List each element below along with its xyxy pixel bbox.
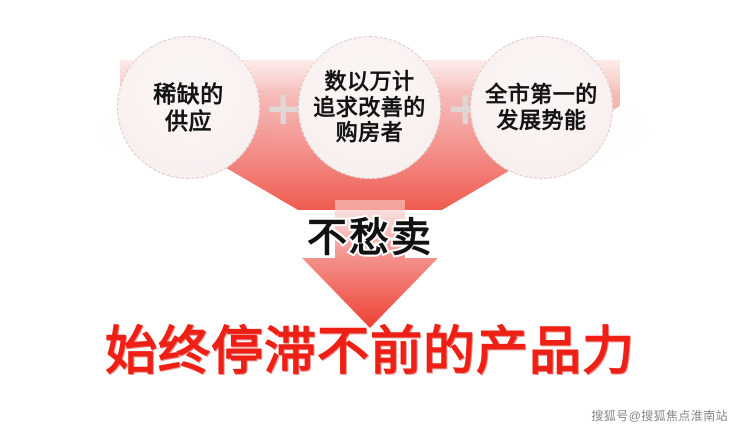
- middle-conclusion-label: 不愁卖: [0, 218, 740, 258]
- circle-2-label: 数以万计 追求改善的 购房者: [313, 69, 426, 146]
- middle-conclusion-text: 不愁卖: [307, 218, 433, 258]
- headline-text: 始终停滞不前的产品力: [0, 325, 740, 380]
- circle-1-label: 稀缺的 供应: [153, 81, 224, 135]
- concept-circle-upgrade-buyers[interactable]: 数以万计 追求改善的 购房者: [298, 36, 441, 179]
- slide-canvas: 稀缺的 供应 + 数以万计 追求改善的 购房者 + 全市第一的 发展势能 不愁卖…: [0, 0, 740, 432]
- circle-3-label: 全市第一的 发展势能: [485, 82, 598, 133]
- concept-circle-city-momentum[interactable]: 全市第一的 发展势能: [470, 36, 613, 179]
- watermark-text: 搜狐号@搜狐焦点淮南站: [591, 407, 728, 424]
- plus-icon: +: [264, 93, 294, 123]
- concept-circle-scarce-supply[interactable]: 稀缺的 供应: [117, 36, 260, 179]
